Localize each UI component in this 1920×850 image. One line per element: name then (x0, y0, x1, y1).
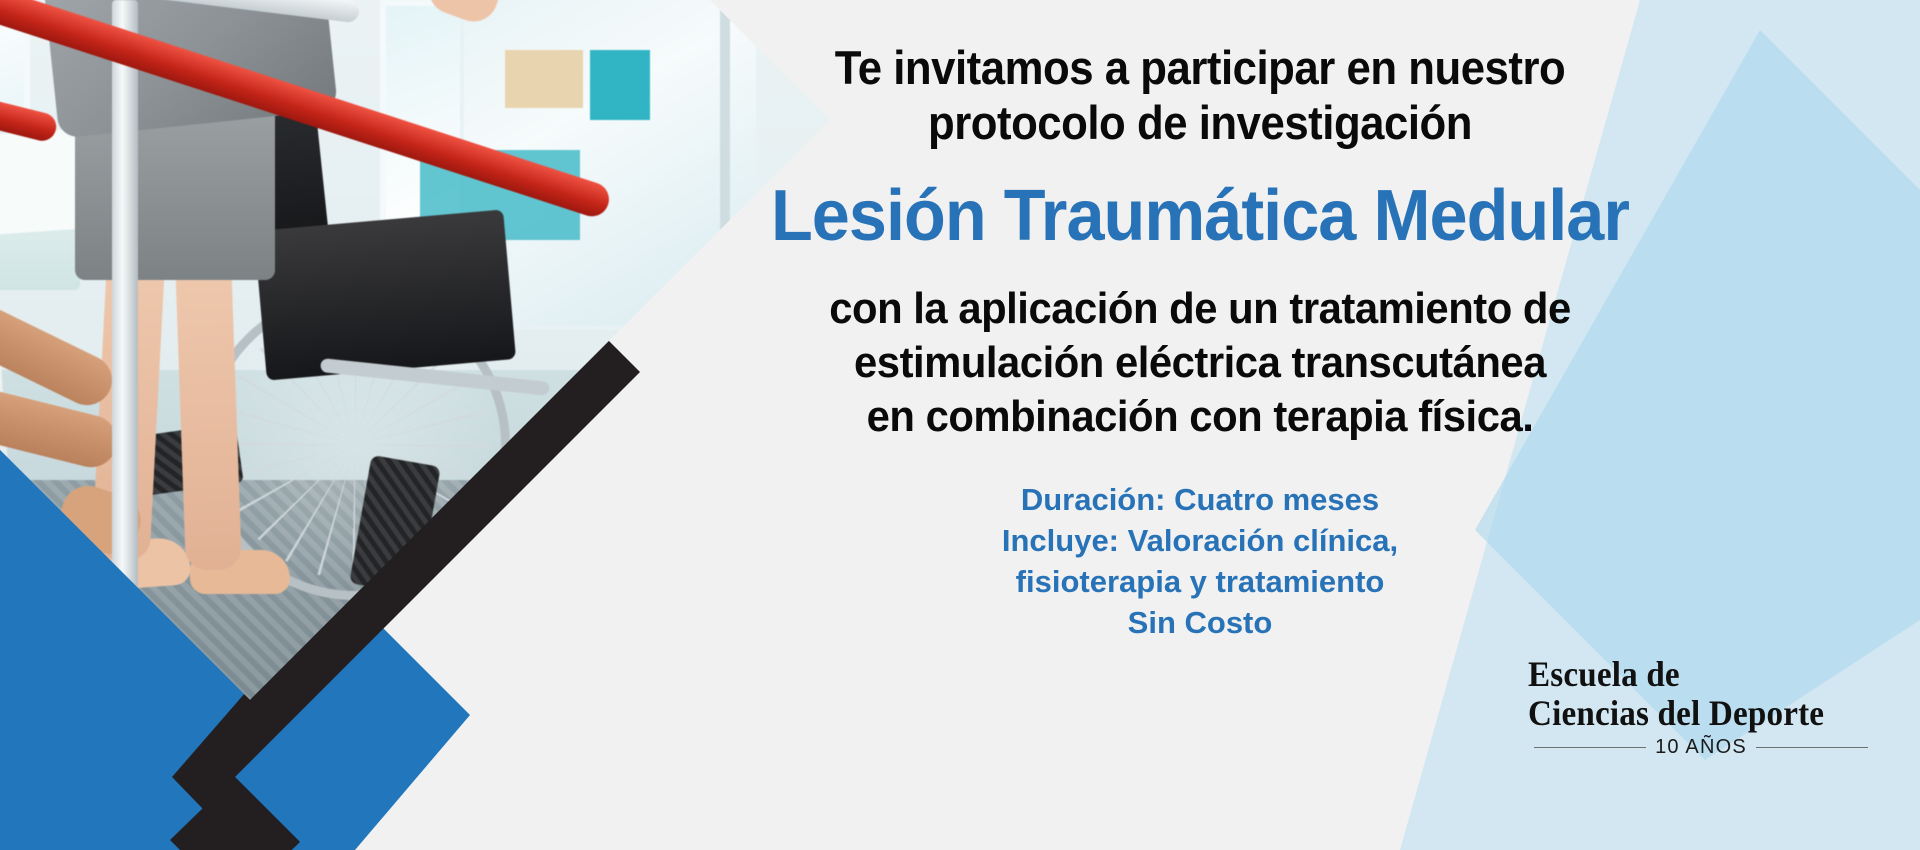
institution-logo: Escuela de Ciencias del Deporte 10 AÑOS (1528, 655, 1868, 759)
description-line-3: en combinación con terapia física. (725, 390, 1675, 444)
program-details: Duración: Cuatro meses Incluye: Valoraci… (700, 480, 1700, 644)
detail-includes: Incluye: Valoración clínica, (700, 521, 1700, 562)
dark-chevron-lower-arm (170, 777, 300, 850)
logo-anniversary-label: 10 AÑOS (1655, 736, 1747, 759)
detail-cost: Sin Costo (700, 603, 1700, 644)
rule-left (1534, 747, 1646, 748)
description-block: con la aplicación de un tratamiento de e… (725, 282, 1675, 444)
logo-line-1: Escuela de (1528, 655, 1841, 694)
detail-includes-cont: fisioterapia y tratamiento (700, 562, 1700, 603)
invitation-line-1: Te invitamos a participar en nuestro (735, 40, 1665, 95)
detail-duration: Duración: Cuatro meses (700, 480, 1700, 521)
logo-line-2: Ciencias del Deporte (1528, 694, 1841, 733)
rule-right (1756, 747, 1868, 748)
description-line-1: con la aplicación de un tratamiento de (725, 282, 1675, 336)
logo-anniversary-rule: 10 AÑOS (1528, 736, 1868, 759)
text-content: Te invitamos a participar en nuestro pro… (700, 40, 1700, 644)
wall-poster (505, 50, 583, 108)
page-title: Lesión Traumática Medular (725, 177, 1675, 256)
wheelchair-seat (254, 209, 516, 380)
patient-leg (174, 229, 242, 571)
description-line-2: estimulación eléctrica transcutánea (725, 336, 1675, 390)
wall-poster (590, 50, 650, 120)
parallel-bar-post (112, 0, 138, 700)
invitation-line-2: protocolo de investigación (735, 95, 1665, 150)
invitation-heading: Te invitamos a participar en nuestro pro… (735, 40, 1665, 151)
promotional-banner: Te invitamos a participar en nuestro pro… (0, 0, 1920, 850)
